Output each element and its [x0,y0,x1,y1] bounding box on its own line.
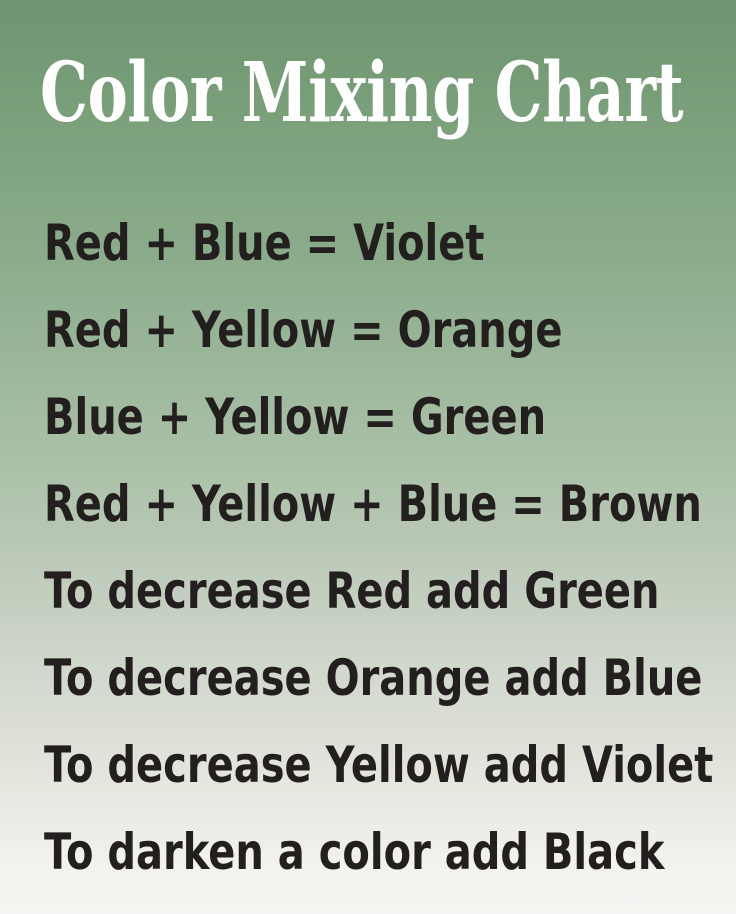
list-item: To decrease Orange add Blue [44,635,588,722]
list-item: To decrease Red add Green [44,548,588,635]
list-item: Red + Yellow + Blue = Brown [44,461,588,548]
list-item: Red + Blue = Violet [44,200,588,287]
color-mixing-rule-list: Red + Blue = Violet Red + Yellow = Orang… [44,200,724,896]
list-item: Red + Yellow = Orange [44,287,588,374]
color-mixing-chart-poster: Color Mixing Chart Red + Blue = Violet R… [0,0,736,914]
list-item: Blue + Yellow = Green [44,374,588,461]
list-item: To decrease Yellow add Violet [44,722,588,809]
page-title: Color Mixing Chart [40,52,525,134]
title-block: Color Mixing Chart [40,52,700,142]
list-item: To darken a color add Black [44,809,588,896]
